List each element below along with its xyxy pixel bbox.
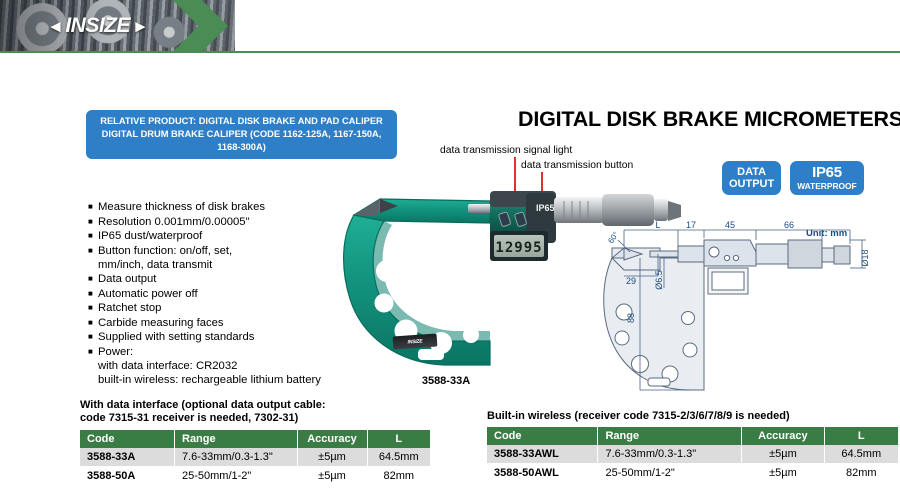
bullet-square-icon: ■ — [88, 215, 98, 230]
relative-product-box: RELATIVE PRODUCT: DIGITAL DISK BRAKE AND… — [86, 110, 397, 159]
list-item: ■Automatic power off — [88, 287, 358, 302]
svg-text:IP65: IP65 — [536, 203, 555, 213]
cell-l: 64.5mm — [367, 448, 430, 467]
feature-text: Carbide measuring faces — [98, 316, 224, 330]
bullet-square-icon: ■ — [88, 229, 98, 244]
insize-logo: ◄INSIZE► — [47, 14, 148, 38]
feature-text: built-in wireless: rechargeable lithium … — [98, 373, 321, 387]
table-right-title-line1: Built-in wireless (receiver code 7315-2/… — [487, 410, 898, 423]
dim-45: 45 — [725, 220, 735, 230]
cell-l: 82mm — [824, 464, 898, 483]
table-left-title: With data interface (optional data outpu… — [80, 399, 430, 426]
cell-accuracy: ±5µm — [297, 448, 367, 467]
table-header-row: Code Range Accuracy L — [80, 430, 430, 448]
feature-text: Data output — [98, 272, 156, 286]
callout-signal-light: data transmission signal light — [440, 145, 572, 156]
dim-88: 88 — [626, 313, 636, 323]
feature-text: Power: — [98, 345, 133, 359]
dim-66: 66 — [784, 220, 794, 230]
list-item: ■Supplied with setting standards — [88, 330, 358, 345]
relative-product-line1: RELATIVE PRODUCT: DIGITAL DISK BRAKE AND… — [92, 115, 391, 128]
micrometer-dimension-drawing: L 17 45 66 29 88 Ø6.5 Ø18 60° — [600, 218, 900, 393]
logo-wordmark: INSIZE — [65, 14, 130, 38]
feature-badges: DATA OUTPUT IP65 WATERPROOF — [722, 161, 864, 195]
dim-29: 29 — [626, 276, 636, 286]
column-header-l: L — [367, 430, 430, 448]
feature-text: mm/inch, data transmit — [98, 258, 212, 272]
badge-ip65-line2: WATERPROOF — [797, 182, 856, 191]
bullet-square-icon: ■ — [88, 301, 98, 316]
list-item: ■Data output — [88, 272, 358, 287]
table-with-data-interface: With data interface (optional data outpu… — [80, 399, 430, 486]
spec-table-left: Code Range Accuracy L 3588-33A 7.6-33mm/… — [80, 430, 430, 486]
cell-l: 82mm — [367, 466, 430, 485]
logo-left-arrow-icon: ◄ — [47, 18, 63, 35]
column-header-code: Code — [487, 427, 598, 445]
table-left-title-line2: code 7315-31 receiver is needed, 7302-31… — [80, 412, 430, 425]
cell-code: 3588-33A — [80, 448, 175, 467]
cell-range: 7.6-33mm/0.3-1.3" — [175, 448, 298, 467]
list-item: ■Measure thickness of disk brakes — [88, 200, 358, 215]
technical-drawing: L 17 45 66 29 88 Ø6.5 Ø18 60° — [600, 218, 900, 393]
bullet-square-icon: ■ — [88, 272, 98, 287]
feature-text: Measure thickness of disk brakes — [98, 200, 265, 214]
cell-l: 64.5mm — [824, 445, 898, 464]
product-model-caption: 3588-33A — [386, 375, 506, 387]
table-row: 3588-50AWL 25-50mm/1-2" ±5µm 82mm — [487, 464, 898, 483]
bullet-square-icon: ■ — [88, 330, 98, 345]
table-row: 3588-33AWL 7.6-33mm/0.3-1.3" ±5µm 64.5mm — [487, 445, 898, 464]
feature-text: Resolution 0.001mm/0.00005" — [98, 215, 250, 229]
table-header-row: Code Range Accuracy L — [487, 427, 898, 445]
callout-transmission-button: data transmission button — [521, 160, 633, 171]
header-divider-rule — [0, 51, 900, 53]
list-item: ■Power: — [88, 345, 358, 360]
feature-list: ■Measure thickness of disk brakes ■Resol… — [88, 200, 358, 387]
cell-range: 25-50mm/1-2" — [598, 464, 742, 483]
column-header-l: L — [824, 427, 898, 445]
list-item: ■Button function: on/off, set, — [88, 244, 358, 259]
feature-text: with data interface: CR2032 — [98, 359, 237, 373]
dim-bore: Ø6.5 — [654, 270, 664, 290]
column-header-range: Range — [175, 430, 298, 448]
list-item: ■IP65 dust/waterproof — [88, 229, 358, 244]
badge-data-output: DATA OUTPUT — [722, 161, 781, 195]
relative-product-line2: DIGITAL DRUM BRAKE CALIPER (CODE 1162-12… — [92, 128, 391, 154]
list-item-continuation: built-in wireless: rechargeable lithium … — [88, 373, 358, 387]
list-item: ■Resolution 0.001mm/0.00005" — [88, 215, 358, 230]
feature-text: Automatic power off — [98, 287, 198, 301]
table-left-title-line1: With data interface (optional data outpu… — [80, 399, 430, 412]
page-title: DIGITAL DISK BRAKE MICROMETERS — [518, 107, 900, 132]
spec-table-right: Code Range Accuracy L 3588-33AWL 7.6-33m… — [487, 427, 898, 483]
bullet-square-icon: ■ — [88, 345, 98, 360]
column-header-accuracy: Accuracy — [742, 427, 824, 445]
feature-text: IP65 dust/waterproof — [98, 229, 202, 243]
column-header-accuracy: Accuracy — [297, 430, 367, 448]
list-item: ■Ratchet stop — [88, 301, 358, 316]
dim-17: 17 — [686, 220, 696, 230]
cell-accuracy: ±5µm — [297, 466, 367, 485]
table-built-in-wireless: Built-in wireless (receiver code 7315-2/… — [487, 410, 898, 483]
column-header-range: Range — [598, 427, 742, 445]
dim-L: L — [655, 220, 660, 230]
cell-code: 3588-50AWL — [487, 464, 598, 483]
badge-data-output-line2: OUTPUT — [729, 178, 774, 190]
feature-text: Button function: on/off, set, — [98, 244, 232, 258]
cell-accuracy: ±5µm — [742, 464, 824, 483]
dim-angle: 60° — [606, 230, 620, 245]
lcd-reading: 12995 — [495, 240, 542, 256]
logo-right-arrow-icon: ► — [132, 18, 148, 35]
bullet-square-icon: ■ — [88, 316, 98, 331]
badge-data-output-line1: DATA — [737, 166, 766, 178]
bullet-square-icon: ■ — [88, 200, 98, 215]
feature-text: Ratchet stop — [98, 301, 161, 315]
bullet-square-icon: ■ — [88, 244, 98, 259]
table-row: 3588-33A 7.6-33mm/0.3-1.3" ±5µm 64.5mm — [80, 448, 430, 467]
cell-range: 25-50mm/1-2" — [175, 466, 298, 485]
cell-range: 7.6-33mm/0.3-1.3" — [598, 445, 742, 464]
badge-ip65-waterproof: IP65 WATERPROOF — [790, 161, 863, 195]
page-header-banner: ◄INSIZE► — [0, 0, 900, 53]
cell-accuracy: ±5µm — [742, 445, 824, 464]
badge-ip65-line1: IP65 — [812, 165, 842, 182]
list-item: ■Carbide measuring faces — [88, 316, 358, 331]
list-item-continuation: mm/inch, data transmit — [88, 258, 358, 272]
cell-code: 3588-33AWL — [487, 445, 598, 464]
table-right-title: Built-in wireless (receiver code 7315-2/… — [487, 410, 898, 423]
list-item-continuation: with data interface: CR2032 — [88, 359, 358, 373]
feature-text: Supplied with setting standards — [98, 330, 254, 344]
bullet-square-icon: ■ — [88, 287, 98, 302]
column-header-code: Code — [80, 430, 175, 448]
cell-code: 3588-50A — [80, 466, 175, 485]
dim-d18: Ø18 — [860, 249, 870, 266]
table-row: 3588-50A 25-50mm/1-2" ±5µm 82mm — [80, 466, 430, 485]
